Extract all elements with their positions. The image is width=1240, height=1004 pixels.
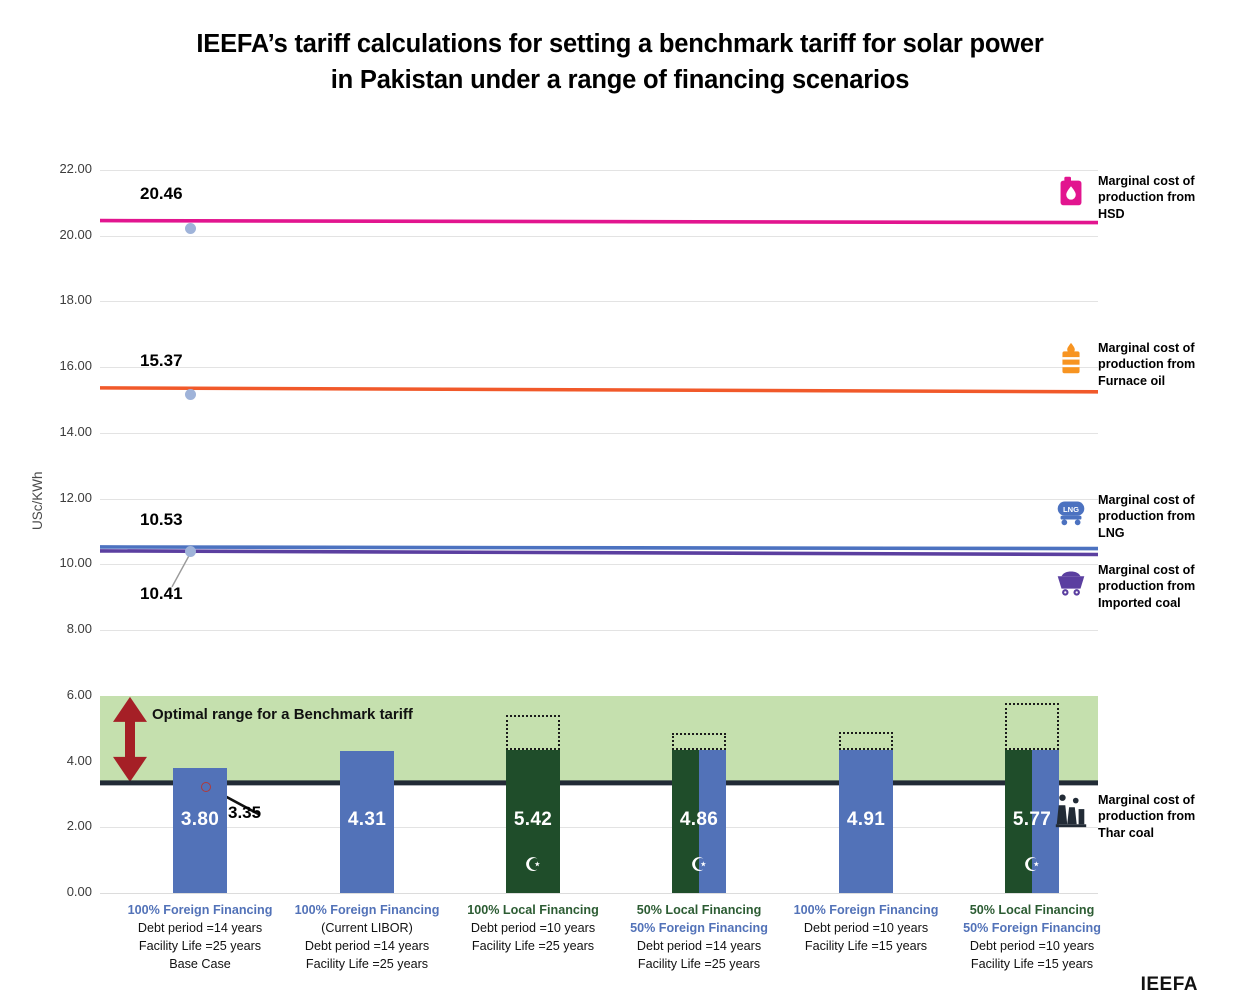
- pakistan-flag-icon: ☪: [1005, 854, 1059, 877]
- jerrycan-icon: [1052, 173, 1090, 211]
- x-label-c6: 50% Local Financing50% Foreign Financing…: [942, 902, 1122, 974]
- coal-cart-icon: [1052, 562, 1090, 600]
- annotation-hsd-value: 20.46: [140, 184, 183, 204]
- x-label-c2: 100% Foreign Financing(Current LIBOR)Deb…: [277, 902, 457, 974]
- x-label-line: Debt period =10 years: [776, 920, 956, 938]
- legend-item-hsd[interactable]: Marginal cost of production from HSD: [1052, 173, 1233, 222]
- bar-bar5-dashed-extension: [839, 732, 893, 750]
- x-label-line: Facility Life =25 years: [110, 938, 290, 956]
- x-label-line: (Current LIBOR): [277, 920, 457, 938]
- x-label-line: Debt period =10 years: [942, 938, 1122, 956]
- legend-label-furnace: Marginal cost of production from Furnace…: [1098, 340, 1233, 389]
- y-tick-label: 8.00: [36, 621, 92, 636]
- benchmark-cost-lines: [100, 170, 1098, 893]
- x-label-line: Debt period =14 years: [110, 920, 290, 938]
- bar-bar4-dashed-extension: [672, 733, 726, 750]
- legend-label-impcoal: Marginal cost of production from Importe…: [1098, 562, 1233, 611]
- bar-bar6-dashed-extension: [1005, 703, 1059, 750]
- bar-bar6[interactable]: 5.77☪: [1005, 750, 1059, 893]
- pakistan-flag-icon: ☪: [672, 854, 726, 877]
- lng-tanker-icon: LNG: [1052, 492, 1090, 530]
- x-label-header-2: 50% Foreign Financing: [942, 920, 1122, 938]
- x-label-header: 100% Foreign Financing: [277, 902, 457, 920]
- y-tick-label: 2.00: [36, 818, 92, 833]
- legend-item-furnace[interactable]: Marginal cost of production from Furnace…: [1052, 340, 1233, 389]
- gridline: [100, 893, 1098, 894]
- legend-item-impcoal[interactable]: Marginal cost of production from Importe…: [1052, 562, 1233, 611]
- x-label-line: Facility Life =25 years: [609, 956, 789, 974]
- x-label-header: 100% Foreign Financing: [110, 902, 290, 920]
- bar-bar4[interactable]: 4.86☪: [672, 750, 726, 893]
- bar-bar3[interactable]: 5.42☪: [506, 750, 560, 893]
- x-label-line: Debt period =14 years: [609, 938, 789, 956]
- annotation-furnace-value: 15.37: [140, 351, 183, 371]
- x-label-header-2: 50% Foreign Financing: [609, 920, 789, 938]
- x-label-header: 50% Local Financing: [942, 902, 1122, 920]
- y-tick-label: 10.00: [36, 555, 92, 570]
- svg-text:LNG: LNG: [1063, 505, 1079, 514]
- y-tick-label: 6.00: [36, 687, 92, 702]
- marker-lng-impcoal: [185, 546, 196, 557]
- y-tick-label: 12.00: [36, 490, 92, 505]
- x-label-line: Debt period =10 years: [443, 920, 623, 938]
- power-plant-icon: [1052, 792, 1090, 830]
- x-label-line: Facility Life =25 years: [443, 938, 623, 956]
- marker-furnace: [185, 389, 196, 400]
- legend-item-lng[interactable]: LNGMarginal cost of production from LNG: [1052, 492, 1233, 541]
- y-tick-label: 14.00: [36, 424, 92, 439]
- legend-item-tharcoal[interactable]: Marginal cost of production from Thar co…: [1052, 792, 1233, 841]
- marker-hsd: [185, 223, 196, 234]
- bar-value-label: 5.77: [1005, 809, 1059, 831]
- x-label-c3: 100% Local FinancingDebt period =10 year…: [443, 902, 623, 956]
- x-label-header: 100% Foreign Financing: [776, 902, 956, 920]
- bar-bar3-dashed-extension: [506, 715, 560, 750]
- x-label-line: Debt period =14 years: [277, 938, 457, 956]
- bar-value-label: 4.91: [839, 809, 893, 831]
- annotation-impcoal-value: 10.41: [140, 584, 183, 604]
- bar-bar5[interactable]: 4.91: [839, 750, 893, 893]
- x-label-header: 100% Local Financing: [443, 902, 623, 920]
- legend-label-hsd: Marginal cost of production from HSD: [1098, 173, 1233, 222]
- x-label-line: Base Case: [110, 956, 290, 974]
- bar-bar2[interactable]: 4.31: [340, 751, 394, 893]
- x-label-c5: 100% Foreign FinancingDebt period =10 ye…: [776, 902, 956, 956]
- x-label-c4: 50% Local Financing50% Foreign Financing…: [609, 902, 789, 974]
- bar-value-label: 4.86: [672, 809, 726, 831]
- annotation-tharcoal-value: 3.35: [228, 803, 261, 823]
- title-line-2: in Pakistan under a range of financing s…: [0, 62, 1240, 98]
- x-label-line: Facility Life =15 years: [776, 938, 956, 956]
- oil-barrel-icon: [1052, 340, 1090, 378]
- bar-value-label: 5.42: [506, 809, 560, 831]
- annotation-lng-value: 10.53: [140, 510, 183, 530]
- y-tick-label: 4.00: [36, 753, 92, 768]
- y-tick-label: 18.00: [36, 292, 92, 307]
- ieefa-logo: IEEFA: [1141, 974, 1198, 996]
- bar-bar1[interactable]: 3.80: [173, 768, 227, 893]
- legend-label-lng: Marginal cost of production from LNG: [1098, 492, 1233, 541]
- x-label-line: Facility Life =25 years: [277, 956, 457, 974]
- y-tick-label: 20.00: [36, 227, 92, 242]
- marker-tharcoal: [201, 782, 211, 792]
- x-label-header: 50% Local Financing: [609, 902, 789, 920]
- legend-label-tharcoal: Marginal cost of production from Thar co…: [1098, 792, 1233, 841]
- chart-root: IEEFA’s tariff calculations for setting …: [0, 0, 1240, 1004]
- x-label-line: Facility Life =15 years: [942, 956, 1122, 974]
- y-tick-label: 0.00: [36, 884, 92, 899]
- bar-value-label: 3.80: [173, 809, 227, 831]
- y-tick-label: 16.00: [36, 358, 92, 373]
- plot-area: Optimal range for a Benchmark tariff 3.8…: [100, 170, 1098, 893]
- bar-value-label: 4.31: [340, 809, 394, 831]
- x-label-c1: 100% Foreign FinancingDebt period =14 ye…: [110, 902, 290, 974]
- page-title: IEEFA’s tariff calculations for setting …: [0, 26, 1240, 98]
- y-tick-label: 22.00: [36, 161, 92, 176]
- title-line-1: IEEFA’s tariff calculations for setting …: [0, 26, 1240, 62]
- pakistan-flag-icon: ☪: [506, 854, 560, 877]
